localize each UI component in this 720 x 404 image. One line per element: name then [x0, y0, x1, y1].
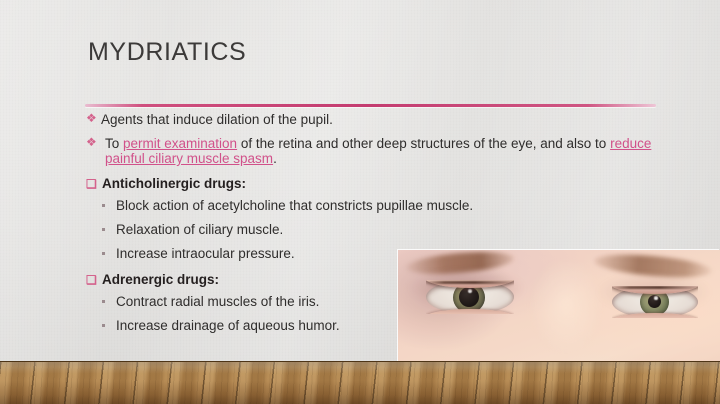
- diamond-bullet-icon: ❖: [86, 111, 97, 126]
- intro-bullet-1: ❖ Agents that induce dilation of the pup…: [86, 112, 666, 127]
- presentation-slide: MYDRIATICS ❖ Agents that induce dilation…: [0, 0, 720, 404]
- square-dot-icon: [102, 228, 105, 231]
- intro-bullet-1-text: Agents that induce dilation of the pupil…: [101, 112, 333, 127]
- floor-gloss: [0, 362, 720, 404]
- square-bullet-icon: ❑: [86, 272, 97, 288]
- wooden-floor-band: [0, 361, 720, 404]
- eyes-photo: [398, 250, 720, 362]
- list-item: Relaxation of ciliary muscle.: [86, 222, 666, 238]
- list-item-text: Increase drainage of aqueous humor.: [116, 318, 340, 333]
- square-dot-icon: [102, 204, 105, 207]
- intro-bullet-2-text: To permit examination of the retina and …: [105, 136, 651, 166]
- square-dot-icon: [102, 324, 105, 327]
- list-item-text: Block action of acetylcholine that const…: [116, 198, 473, 213]
- title-divider: [85, 104, 656, 107]
- square-dot-icon: [102, 300, 105, 303]
- photo-soft-overlay: [398, 250, 720, 362]
- section-heading-text: Adrenergic drugs:: [102, 272, 219, 287]
- highlight-permit-examination: permit examination: [123, 136, 237, 151]
- list-item: Block action of acetylcholine that const…: [86, 198, 666, 214]
- diamond-bullet-icon: ❖: [86, 135, 97, 150]
- section-heading-text: Anticholinergic drugs:: [102, 176, 246, 191]
- square-bullet-icon: ❑: [86, 176, 97, 192]
- intro-bullet-2: ❖ To permit examination of the retina an…: [86, 136, 666, 166]
- list-item-text: Contract radial muscles of the iris.: [116, 294, 319, 309]
- section-heading-anticholinergic: ❑ Anticholinergic drugs:: [86, 176, 666, 192]
- list-item-text: Increase intraocular pressure.: [116, 246, 295, 261]
- square-dot-icon: [102, 252, 105, 255]
- list-item-text: Relaxation of ciliary muscle.: [116, 222, 283, 237]
- page-title: MYDRIATICS: [88, 38, 246, 67]
